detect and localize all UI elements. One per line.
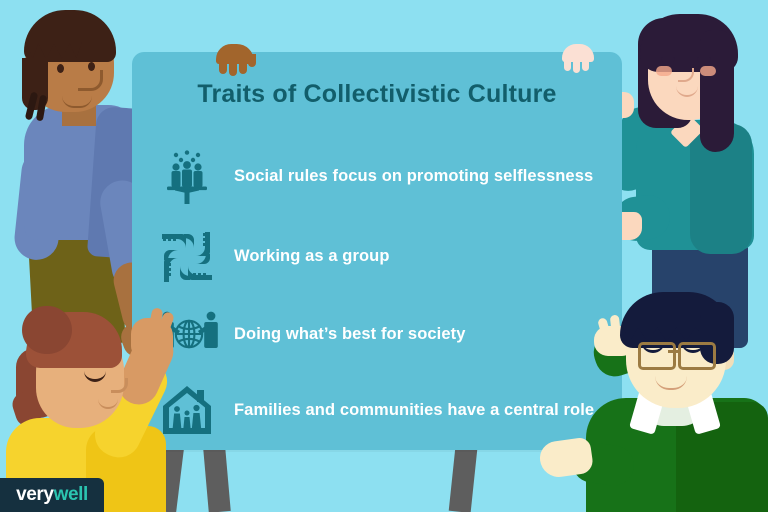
four-interlocking-hands-icon <box>160 230 214 284</box>
woman-top-right-blush <box>656 66 672 76</box>
woman-top-right-eye <box>697 57 711 62</box>
woman-top-right-blush <box>700 66 716 76</box>
trait-label: Doing what’s best for society <box>234 325 466 345</box>
page-title: Traits of Collectivistic Culture <box>132 80 622 109</box>
logo-text-very: very <box>16 484 54 505</box>
logo-text-well: well <box>54 484 88 505</box>
man-top-left-eye <box>57 64 64 73</box>
presentation-board: Traits of Collectivistic Culture <box>132 52 622 450</box>
woman-bottom-left-hair-bun <box>22 306 72 354</box>
trait-row: Social rules focus on promoting selfless… <box>160 150 608 204</box>
infographic-canvas: Traits of Collectivistic Culture <box>0 0 768 512</box>
glasses-icon <box>678 342 716 370</box>
people-on-platform-lifted-icon <box>160 150 214 204</box>
glasses-icon <box>638 342 676 370</box>
glasses-bridge <box>668 350 680 353</box>
trait-label: Families and communities have a central … <box>234 401 594 421</box>
trait-label: Social rules focus on promoting selfless… <box>234 167 593 187</box>
trait-row: Doing what’s best for society <box>160 308 608 362</box>
verywell-logo: verywell <box>0 478 104 512</box>
trait-label: Working as a group <box>234 247 390 267</box>
trait-row: Families and communities have a central … <box>160 384 608 438</box>
trait-row: Working as a group <box>160 230 608 284</box>
woman-top-right-eye <box>661 57 675 62</box>
house-with-family-icon <box>160 384 214 438</box>
logo-text: verywell <box>16 484 88 506</box>
woman-top-right-hair-right <box>700 30 734 152</box>
